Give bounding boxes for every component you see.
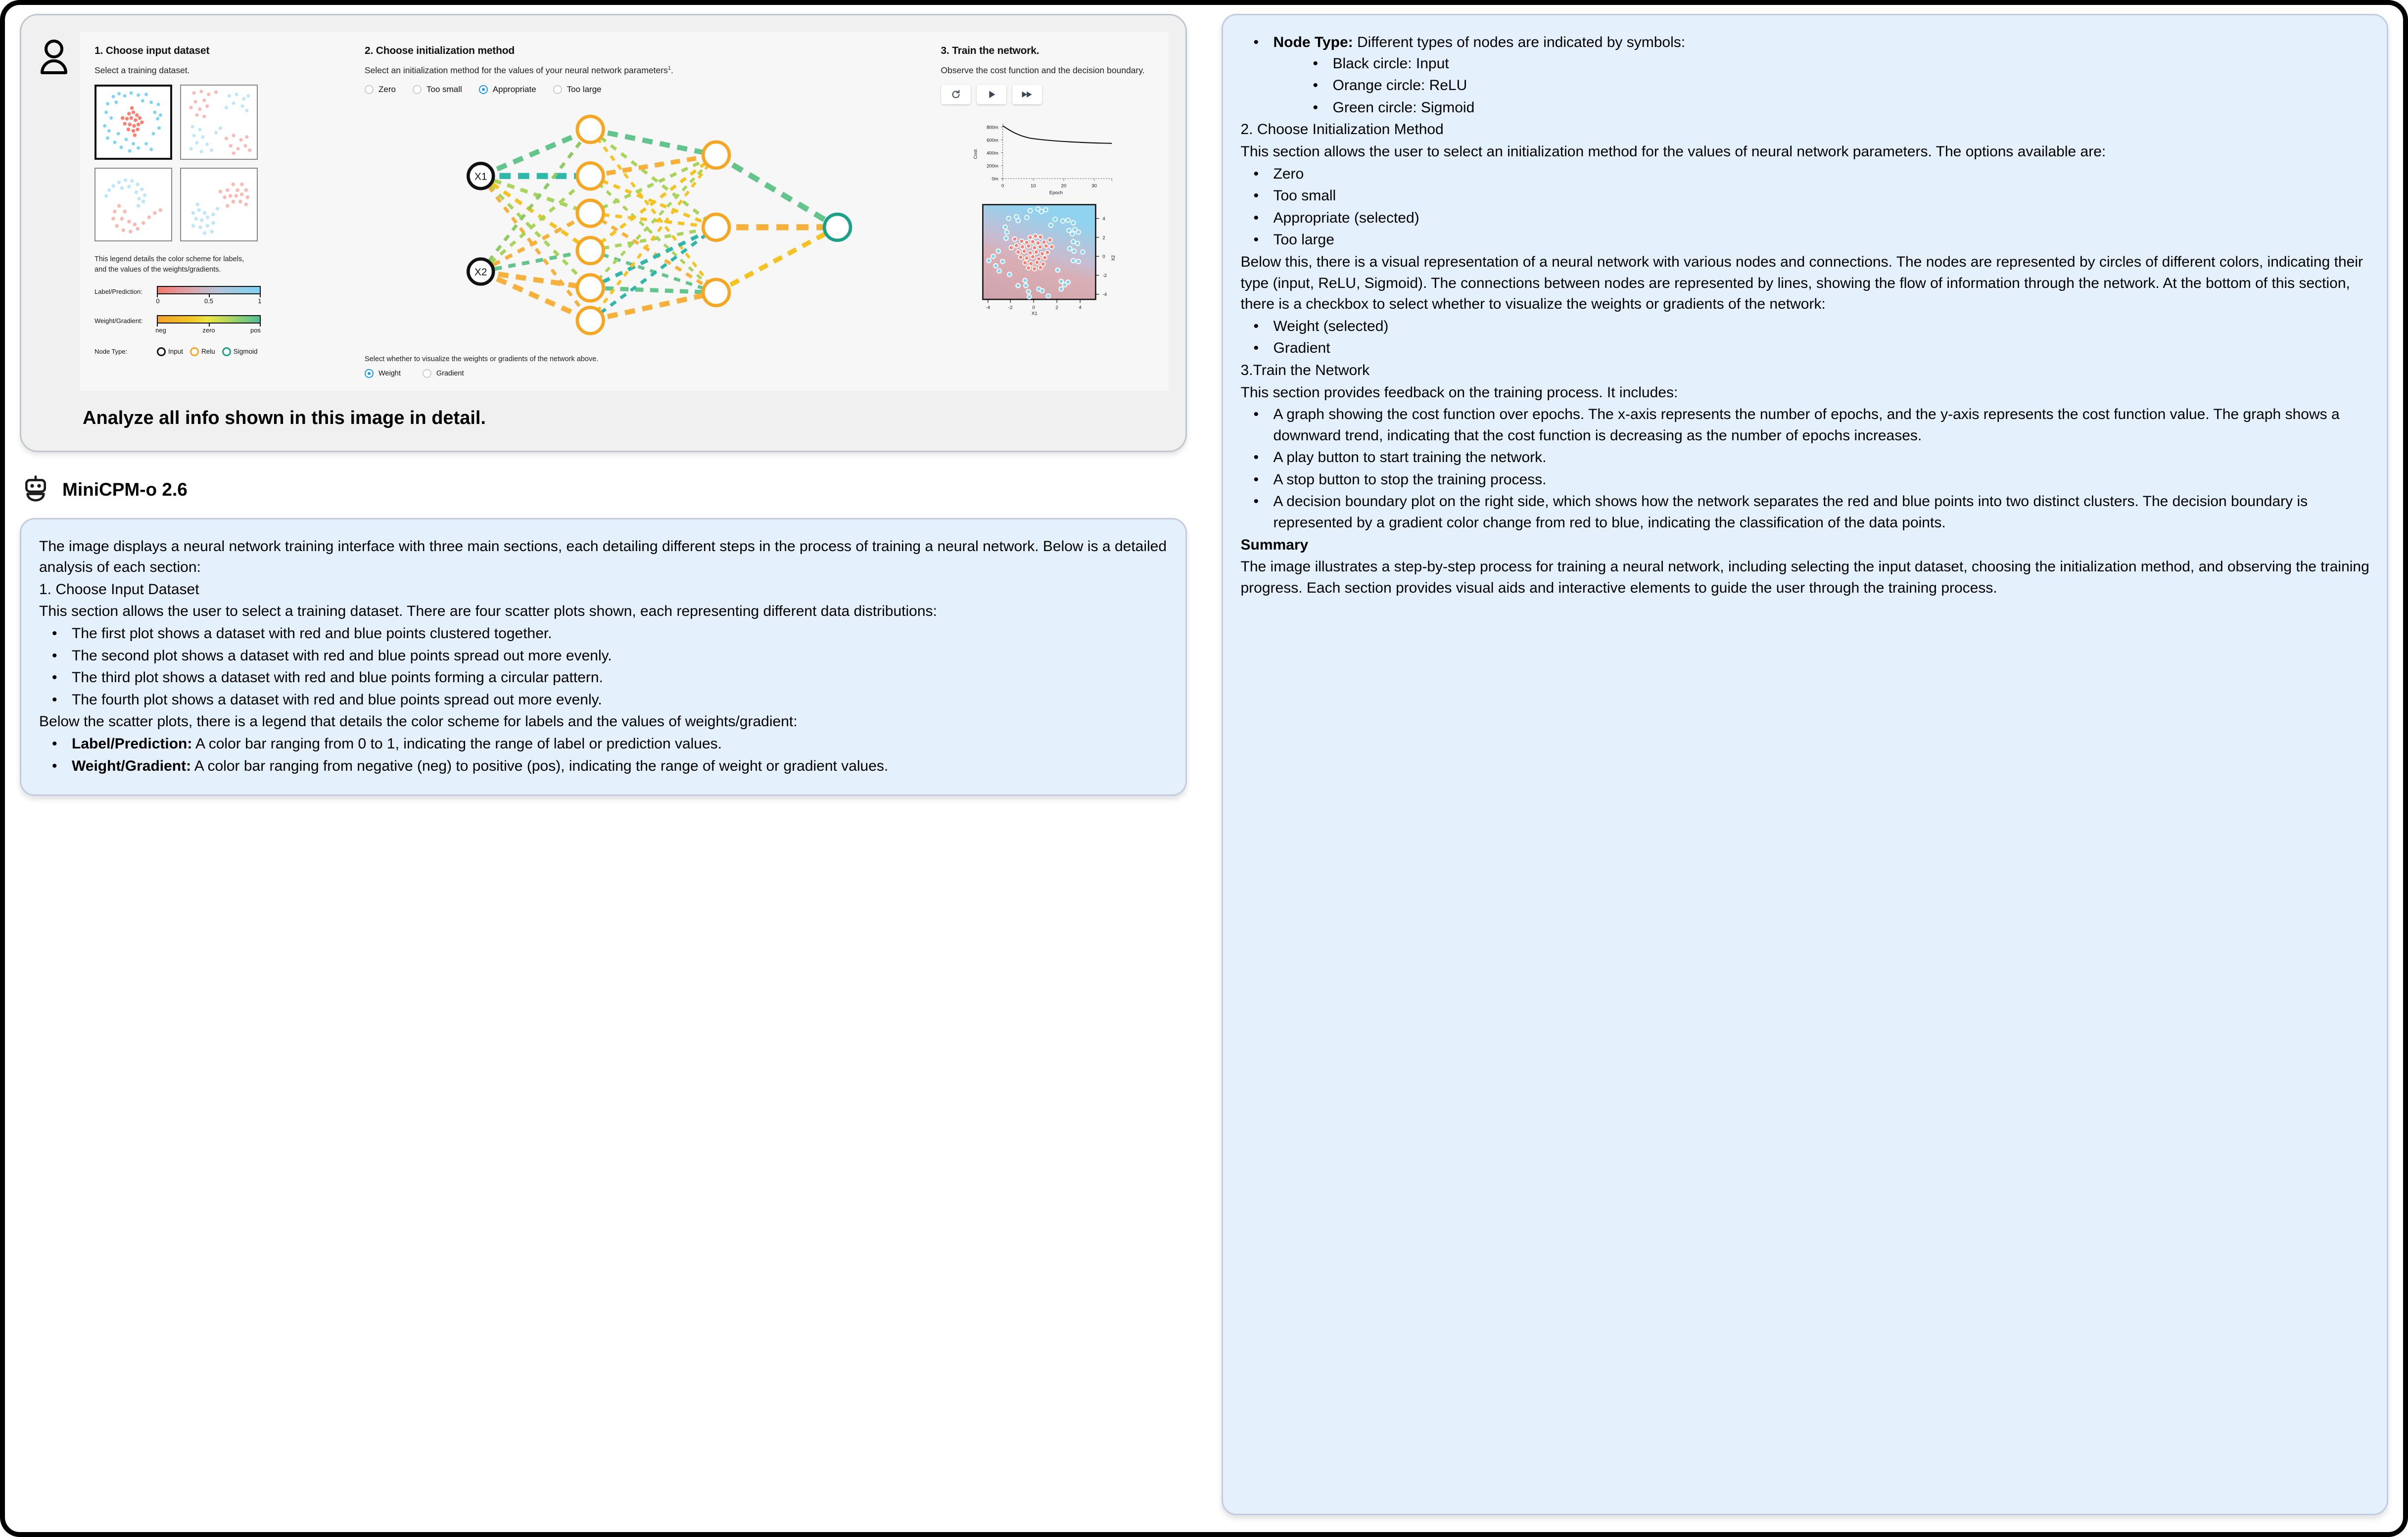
boundary-xtick-2: 2 bbox=[1055, 305, 1058, 310]
viz-option-gradient-label: Gradient bbox=[436, 370, 464, 377]
bullet-weight-gradient-bold: Weight/Gradient: bbox=[72, 758, 191, 774]
input-node-icon bbox=[157, 347, 166, 356]
panel1-heading: 1. Choose input dataset bbox=[94, 45, 352, 57]
list-item: The second plot shows a dataset with red… bbox=[39, 646, 1169, 667]
radio-dot-too-small[interactable] bbox=[413, 85, 422, 94]
visualize-weights-note: Select whether to visualize the weights … bbox=[365, 355, 928, 363]
radio-dot-zero[interactable] bbox=[365, 85, 374, 94]
play-icon bbox=[986, 89, 997, 100]
init-option-appropriate-label: Appropriate bbox=[493, 85, 536, 94]
response-bullets-viz-options: Weight (selected) Gradient bbox=[1241, 316, 2370, 359]
panel-choose-input-dataset: 1. Choose input dataset Select a trainin… bbox=[94, 45, 352, 378]
lp-tick-1: 0.5 bbox=[204, 297, 213, 305]
viz-option-weight-label: Weight bbox=[378, 370, 401, 377]
weight-gradient-tick-labels: neg zero pos bbox=[157, 326, 261, 335]
node-legend-input: Input bbox=[157, 347, 183, 356]
user-prompt-text: Analyze all info shown in this image in … bbox=[80, 391, 1169, 431]
list-item: Label/Prediction: A color bar ranging fr… bbox=[39, 734, 1169, 755]
panel2-heading: 2. Choose initialization method bbox=[365, 45, 928, 57]
node-legend-input-label: Input bbox=[168, 348, 183, 355]
label-prediction-colorbar bbox=[157, 286, 261, 294]
list-item: A stop button to stop the training proce… bbox=[1241, 469, 2370, 491]
node-legend-relu: Relu bbox=[190, 347, 215, 356]
response-p4: Below this, there is a visual representa… bbox=[1241, 252, 2370, 315]
assistant-response-left: The image displays a neural network trai… bbox=[20, 518, 1187, 796]
response-summary-heading: Summary bbox=[1241, 535, 2370, 556]
list-item: Too small bbox=[1241, 186, 2370, 207]
wg-tick-1: zero bbox=[202, 326, 215, 334]
response-bullets-datasets: The first plot shows a dataset with red … bbox=[39, 623, 1169, 710]
response-bullets-init-options: Zero Too small Appropriate (selected) To… bbox=[1241, 164, 2370, 251]
cost-ytick-0: 0m bbox=[992, 176, 998, 182]
panel-train-the-network: 3. Train the network. Observe the cost f… bbox=[941, 45, 1154, 378]
fast-forward-icon bbox=[1021, 89, 1034, 100]
response-p3: This section allows the user to select a… bbox=[1241, 141, 2370, 163]
list-item: Node Type: Different types of nodes are … bbox=[1241, 32, 2370, 118]
cost-chart-svg: Cost 800m 600m 400m 200m 0m bbox=[941, 113, 1154, 195]
hidden1-node-5[interactable] bbox=[577, 275, 604, 301]
list-item: Orange circle: ReLU bbox=[1274, 75, 2370, 96]
label-prediction-legend: Label/Prediction: 0 0.5 1 bbox=[94, 286, 352, 306]
assistant-header: MiniCPM-o 2.6 bbox=[22, 475, 1187, 505]
hidden2-node-1[interactable] bbox=[703, 142, 729, 168]
boundary-chart-ylabel: X2 bbox=[1110, 255, 1116, 261]
radio-dot-too-large[interactable] bbox=[553, 85, 562, 94]
response-p1: This section allows the user to select a… bbox=[39, 601, 1169, 622]
radio-dot-gradient[interactable] bbox=[423, 369, 431, 378]
cost-ytick-600: 600m bbox=[987, 138, 998, 143]
boundary-xtick-m2: -2 bbox=[1008, 305, 1012, 310]
list-item: Black circle: Input bbox=[1274, 53, 2370, 75]
scatter-thumb-moons bbox=[95, 169, 171, 240]
fast-forward-button[interactable] bbox=[1012, 85, 1042, 104]
user-message-body: 1. Choose input dataset Select a trainin… bbox=[80, 32, 1169, 431]
list-item: A decision boundary plot on the right si… bbox=[1241, 491, 2370, 533]
response-sub-bullets-node-type: Black circle: Input Orange circle: ReLU … bbox=[1274, 53, 2370, 119]
response-h3: 3.Train the Network bbox=[1241, 360, 2370, 381]
list-item: Weight/Gradient: A color bar ranging fro… bbox=[39, 756, 1169, 777]
viz-option-weight[interactable]: Weight bbox=[365, 369, 401, 378]
response-bullets-train: A graph showing the cost function over e… bbox=[1241, 404, 2370, 534]
cost-xtick-0: 0 bbox=[1001, 183, 1004, 188]
right-column: Node Type: Different types of nodes are … bbox=[1222, 14, 2389, 1517]
response-summary-text: The image illustrates a step-by-step pro… bbox=[1241, 557, 2370, 599]
boundary-xtick-4: 4 bbox=[1079, 305, 1082, 310]
model-name: MiniCPM-o 2.6 bbox=[62, 479, 188, 500]
assistant-response-right: Node Type: Different types of nodes are … bbox=[1222, 14, 2389, 1515]
node-legend-sigmoid: Sigmoid bbox=[222, 347, 258, 356]
bullet-weight-gradient-text: A color bar ranging from negative (neg) … bbox=[191, 758, 888, 774]
relu-node-icon bbox=[190, 347, 199, 356]
response-p5: This section provides feedback on the tr… bbox=[1241, 382, 2370, 404]
weight-gradient-legend: Weight/Gradient: neg zero pos bbox=[94, 315, 352, 335]
panel2-subtext: Select an initialization method for the … bbox=[365, 65, 928, 77]
decision-boundary-chart: 4 2 0 -2 -4 -4 -2 0 2 4 bbox=[941, 200, 1154, 319]
user-icon bbox=[38, 32, 70, 431]
response-h1: 1. Choose Input Dataset bbox=[39, 579, 1169, 601]
list-item: Weight (selected) bbox=[1241, 316, 2370, 337]
init-option-too-large[interactable]: Too large bbox=[553, 85, 602, 94]
list-item: Too large bbox=[1241, 230, 2370, 251]
node-type-label: Node Type: bbox=[94, 348, 157, 355]
node-legend-sigmoid-label: Sigmoid bbox=[234, 348, 258, 355]
list-item: The first plot shows a dataset with red … bbox=[39, 623, 1169, 645]
viz-option-gradient[interactable]: Gradient bbox=[423, 369, 464, 378]
dataset-thumbnail-2[interactable] bbox=[180, 85, 258, 160]
training-controls bbox=[941, 85, 1154, 104]
lp-tick-0: 0 bbox=[156, 297, 159, 305]
cost-xtick-10: 10 bbox=[1031, 183, 1036, 188]
response-bullets-legend: Label/Prediction: A color bar ranging fr… bbox=[39, 734, 1169, 777]
panel2-subtext-main: Select an initialization method for the … bbox=[365, 65, 668, 75]
cost-chart-xlabel: Epoch bbox=[1049, 190, 1062, 195]
cost-chart-ylabel: Cost bbox=[973, 149, 978, 159]
play-button[interactable] bbox=[977, 85, 1006, 104]
boundary-ytick-2: 2 bbox=[1102, 235, 1105, 240]
response-p2: Below the scatter plots, there is a lege… bbox=[39, 711, 1169, 733]
boundary-chart-svg: 4 2 0 -2 -4 -4 -2 0 2 4 bbox=[941, 200, 1154, 317]
cost-ytick-400: 400m bbox=[987, 150, 998, 156]
cost-ytick-200: 200m bbox=[987, 163, 998, 169]
cost-xtick-20: 20 bbox=[1061, 183, 1066, 188]
input-node-x1-label: X1 bbox=[474, 171, 487, 182]
legend-note: This legend details the color scheme for… bbox=[94, 254, 258, 275]
bullet-node-type-bold: Node Type: bbox=[1274, 34, 1353, 50]
input-node-x2-label: X2 bbox=[474, 266, 487, 278]
list-item: A graph showing the cost function over e… bbox=[1241, 404, 2370, 446]
radio-dot-appropriate[interactable] bbox=[479, 85, 488, 94]
reset-button[interactable] bbox=[941, 85, 971, 104]
hidden1-node-2[interactable] bbox=[577, 163, 604, 189]
label-prediction-tick-labels: 0 0.5 1 bbox=[157, 297, 261, 306]
list-item: Green circle: Sigmoid bbox=[1274, 97, 2370, 119]
reset-icon bbox=[950, 89, 961, 100]
cost-curve bbox=[1002, 126, 1112, 143]
init-option-too-large-label: Too large bbox=[567, 85, 602, 94]
sigmoid-node-icon bbox=[222, 347, 231, 356]
init-option-too-small[interactable]: Too small bbox=[413, 85, 462, 94]
boundary-chart-xlabel: X1 bbox=[1032, 311, 1038, 316]
list-item: Appropriate (selected) bbox=[1241, 208, 2370, 229]
boundary-ytick-4: 4 bbox=[1102, 216, 1105, 222]
hidden1-node-4[interactable] bbox=[577, 237, 604, 264]
panel3-subtext: Observe the cost function and the decisi… bbox=[941, 65, 1154, 77]
panel-choose-initialization-method: 2. Choose initialization method Select a… bbox=[365, 45, 928, 378]
response-h2: 2. Choose Initialization Method bbox=[1241, 119, 2370, 140]
boundary-ytick-m4: -4 bbox=[1102, 292, 1107, 297]
lp-tick-2: 1 bbox=[258, 297, 261, 305]
list-item: Gradient bbox=[1241, 338, 2370, 359]
weight-gradient-colorbar bbox=[157, 315, 261, 324]
init-option-zero[interactable]: Zero bbox=[365, 85, 396, 94]
node-legend-relu-label: Relu bbox=[201, 348, 215, 355]
wg-tick-0: neg bbox=[155, 326, 166, 334]
list-item: Zero bbox=[1241, 164, 2370, 185]
scatter-thumb-quadrants bbox=[181, 86, 257, 159]
init-option-zero-label: Zero bbox=[378, 85, 396, 94]
hidden2-node-2[interactable] bbox=[703, 214, 729, 240]
bullet-node-type-text: Different types of nodes are indicated b… bbox=[1353, 34, 1685, 50]
list-item: The third plot shows a dataset with red … bbox=[39, 667, 1169, 689]
cost-function-chart: Cost 800m 600m 400m 200m 0m bbox=[941, 113, 1154, 197]
init-method-radio-group: Zero Too small Appropriate Too large bbox=[365, 85, 928, 94]
bullet-label-prediction-bold: Label/Prediction: bbox=[72, 736, 192, 752]
init-option-too-small-label: Too small bbox=[426, 85, 462, 94]
two-column-layout: 1. Choose input dataset Select a trainin… bbox=[0, 0, 2408, 1537]
user-message-card: 1. Choose input dataset Select a trainin… bbox=[20, 14, 1187, 452]
cost-xtick-30: 30 bbox=[1091, 183, 1097, 188]
visualize-radio-group: Weight Gradient bbox=[365, 369, 928, 378]
neural-network-diagram: X1 X2 bbox=[365, 101, 928, 346]
dataset-thumbnail-3[interactable] bbox=[94, 168, 172, 241]
output-node-sigmoid[interactable] bbox=[824, 214, 850, 240]
list-item: A play button to start training the netw… bbox=[1241, 447, 2370, 468]
robot-icon bbox=[22, 475, 49, 505]
radio-dot-weight[interactable] bbox=[365, 369, 374, 378]
dataset-thumbnail-1[interactable] bbox=[94, 85, 172, 160]
left-column: 1. Choose input dataset Select a trainin… bbox=[20, 14, 1187, 1517]
scatter-thumb-blob bbox=[96, 87, 170, 158]
panel3-heading: 3. Train the network. bbox=[941, 45, 1154, 57]
hidden2-node-3[interactable] bbox=[703, 279, 729, 306]
init-option-appropriate[interactable]: Appropriate bbox=[479, 85, 536, 94]
boundary-ytick-m2: -2 bbox=[1102, 273, 1107, 279]
response-intro: The image displays a neural network trai… bbox=[39, 536, 1169, 578]
embedded-screenshot: 1. Choose input dataset Select a trainin… bbox=[80, 32, 1169, 391]
panel1-subtext: Select a training dataset. bbox=[94, 65, 352, 77]
list-item: The fourth plot shows a dataset with red… bbox=[39, 690, 1169, 711]
cost-ytick-800: 800m bbox=[987, 125, 998, 130]
boundary-xtick-m4: -4 bbox=[986, 305, 990, 310]
hidden1-node-1[interactable] bbox=[577, 116, 604, 142]
hidden1-node-3[interactable] bbox=[577, 200, 604, 226]
hidden1-node-6[interactable] bbox=[577, 307, 604, 333]
dataset-thumbnail-4[interactable] bbox=[180, 168, 258, 241]
neural-network-svg: X1 X2 bbox=[365, 101, 928, 344]
scatter-thumb-diagonal bbox=[181, 169, 257, 240]
panel2-subtext-period: . bbox=[671, 65, 673, 75]
boundary-ytick-0: 0 bbox=[1102, 254, 1105, 259]
dataset-thumbnail-grid bbox=[94, 85, 258, 241]
boundary-xtick-0: 0 bbox=[1032, 305, 1035, 310]
label-prediction-label: Label/Prediction: bbox=[94, 286, 157, 295]
node-type-legend: Node Type: Input Relu Sigm bbox=[94, 347, 352, 356]
response-bullets-node-type: Node Type: Different types of nodes are … bbox=[1241, 32, 2370, 118]
bullet-label-prediction-text: A color bar ranging from 0 to 1, indicat… bbox=[192, 736, 722, 752]
wg-tick-2: pos bbox=[250, 326, 261, 334]
weight-gradient-label: Weight/Gradient: bbox=[94, 315, 157, 325]
